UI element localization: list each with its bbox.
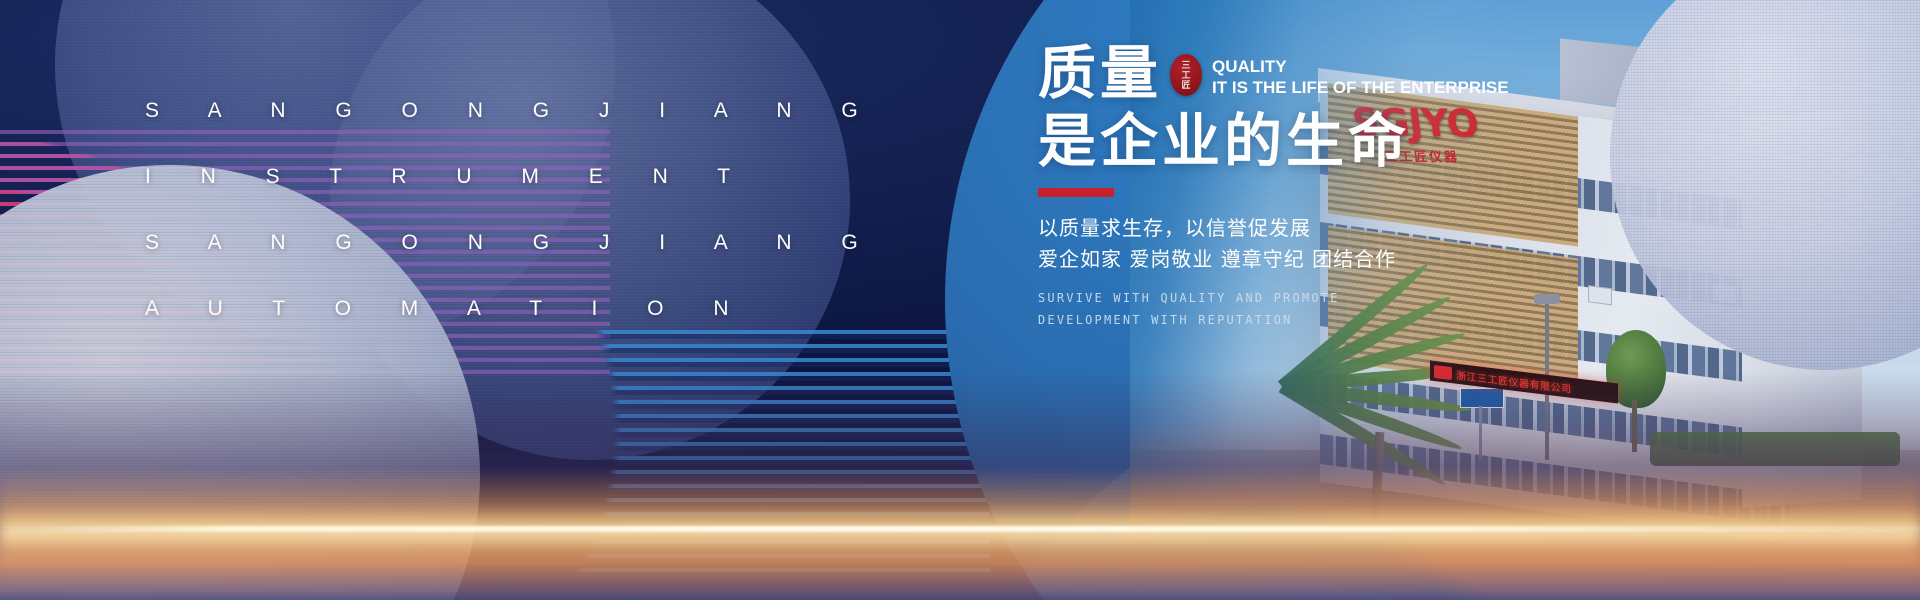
headline-english: QUALITY IT IS THE LIFE OF THE ENTERPRISE <box>1212 56 1509 98</box>
headline-chinese-line2: 是企业的生命 <box>1038 108 1598 174</box>
craftsman-seal-icon: 三 工 匠 <box>1170 54 1202 96</box>
left-brand-text: S A N G O N G J I A N G I N S T R U M E … <box>145 78 785 342</box>
brand-line-3: S A N G O N G J I A N G <box>145 210 785 276</box>
slogan-english-line1: SURVIVE WITH QUALITY AND PROMOTE <box>1038 287 1598 309</box>
promo-banner: SGJYO 三工匠仪器 浙江三工匠仪器有限公司 <box>0 0 1920 600</box>
slogan-chinese-line2: 爱企如家 爱岗敬业 遵章守纪 团结合作 <box>1038 244 1598 275</box>
headline-chinese-line1: 质量 <box>1038 42 1162 104</box>
brand-line-1: S A N G O N G J I A N G <box>145 78 785 144</box>
headline-english-line2: IT IS THE LIFE OF THE ENTERPRISE <box>1212 77 1509 98</box>
brand-line-2: I N S T R U M E N T <box>145 144 785 210</box>
seal-char-2: 工 <box>1182 70 1191 80</box>
headline-english-line1: QUALITY <box>1212 56 1509 77</box>
headline-row: 质量 三 工 匠 QUALITY IT IS THE LIFE OF THE E… <box>1038 42 1598 104</box>
red-divider-bar <box>1038 188 1114 197</box>
slogan-english-line2: DEVELOPMENT WITH REPUTATION <box>1038 309 1598 331</box>
light-streak-core <box>0 526 1920 532</box>
seal-char-3: 匠 <box>1182 80 1191 90</box>
slogan-chinese-line1: 以质量求生存，以信誉促发展 <box>1038 213 1598 244</box>
brand-line-4: A U T O M A T I O N <box>145 276 785 342</box>
quality-slogan-block: 质量 三 工 匠 QUALITY IT IS THE LIFE OF THE E… <box>1038 42 1598 331</box>
seal-char-1: 三 <box>1182 60 1191 70</box>
slogan-english: SURVIVE WITH QUALITY AND PROMOTE DEVELOP… <box>1038 287 1598 331</box>
